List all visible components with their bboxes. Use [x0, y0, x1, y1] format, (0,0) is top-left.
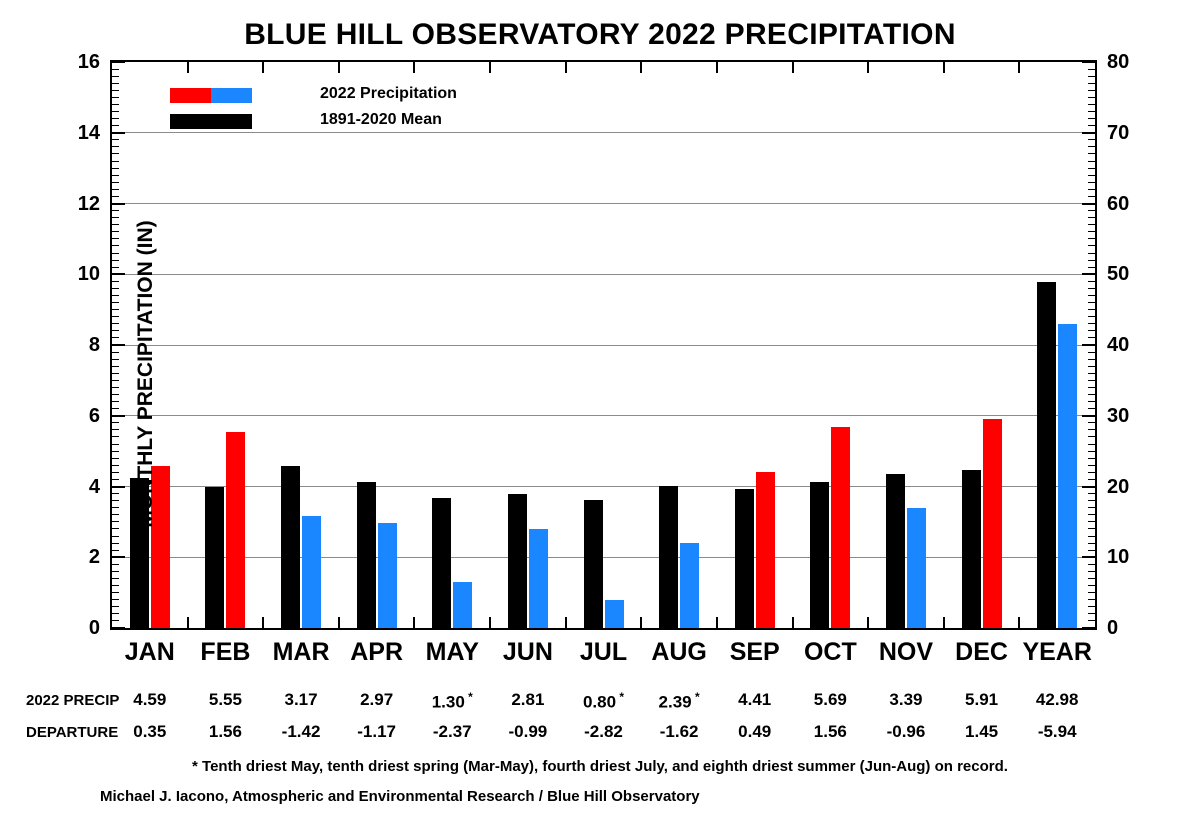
y-tick-minor-left — [112, 302, 119, 303]
y-tick-minor-left — [112, 76, 119, 77]
plot-area: 2022 Precipitation 1891-2020 Mean MONTHL… — [110, 60, 1097, 630]
y-tick-minor-left — [112, 196, 119, 197]
legend-swatch-split — [170, 88, 252, 103]
y-tick-minor-right — [1088, 408, 1095, 409]
y-tick-minor-left — [112, 238, 119, 239]
y-tick-minor-right — [1088, 316, 1095, 317]
y-tick-minor-right — [1088, 380, 1095, 381]
y-tick-minor-left — [112, 422, 119, 423]
gridline — [112, 274, 1095, 275]
bar-2022-below-mean — [1058, 324, 1077, 628]
y-tick-minor-right — [1088, 606, 1095, 607]
y-tick-minor-left — [112, 444, 119, 445]
bar-2022-below-mean — [605, 600, 624, 628]
y-tick-minor-right — [1088, 366, 1095, 367]
bar-2022-below-mean — [680, 543, 699, 628]
y-tick-minor-left — [112, 153, 119, 154]
y-tick-minor-right — [1088, 146, 1095, 147]
x-tick-bottom — [716, 617, 718, 628]
gridline — [112, 203, 1095, 204]
y-tick-minor-right — [1088, 153, 1095, 154]
y-tick-minor-left — [112, 550, 119, 551]
x-tick-top — [413, 62, 415, 73]
y-tick-minor-right — [1088, 422, 1095, 423]
y-tick-major-right — [1082, 344, 1095, 346]
y-tick-minor-right — [1088, 125, 1095, 126]
y-tick-minor-left — [112, 245, 119, 246]
x-tick-bottom — [489, 617, 491, 628]
y-tick-major-right — [1082, 415, 1095, 417]
x-tick-bottom — [187, 617, 189, 628]
y-tick-minor-right — [1088, 97, 1095, 98]
y-tick-minor-right — [1088, 83, 1095, 84]
y-tick-minor-right — [1088, 111, 1095, 112]
bar-mean — [886, 474, 905, 628]
bar-mean — [281, 466, 300, 628]
y-tick-minor-left — [112, 543, 119, 544]
y-tick-minor-right — [1088, 479, 1095, 480]
x-tick-top — [640, 62, 642, 73]
y-tick-minor-left — [112, 408, 119, 409]
y-tick-minor-left — [112, 337, 119, 338]
bar-2022-above-mean — [756, 472, 775, 628]
y-tick-major-left — [112, 627, 125, 628]
y-tick-minor-right — [1088, 161, 1095, 162]
chart-title: BLUE HILL OBSERVATORY 2022 PRECIPITATION — [0, 18, 1200, 52]
gridline — [112, 415, 1095, 416]
y-tick-minor-right — [1088, 359, 1095, 360]
y-tick-minor-right — [1088, 528, 1095, 529]
y-tick-minor-left — [112, 139, 119, 140]
y-tick-minor-left — [112, 288, 119, 289]
y-tick-minor-left — [112, 429, 119, 430]
gridline — [112, 345, 1095, 346]
x-tick-bottom — [867, 617, 869, 628]
bar-2022-below-mean — [453, 582, 472, 628]
y-tick-label-right: 70 — [1107, 123, 1153, 143]
legend-swatch-blue — [211, 88, 252, 103]
y-tick-minor-right — [1088, 267, 1095, 268]
x-tick-top — [867, 62, 869, 73]
y-tick-minor-right — [1088, 352, 1095, 353]
bar-2022-above-mean — [226, 432, 245, 628]
y-tick-minor-right — [1088, 592, 1095, 593]
y-tick-label-right: 20 — [1107, 477, 1153, 497]
y-tick-minor-left — [112, 500, 119, 501]
y-tick-minor-left — [112, 528, 119, 529]
y-tick-minor-right — [1088, 500, 1095, 501]
y-tick-minor-left — [112, 507, 119, 508]
y-tick-minor-right — [1088, 337, 1095, 338]
y-tick-minor-right — [1088, 139, 1095, 140]
y-tick-minor-left — [112, 451, 119, 452]
y-tick-minor-right — [1088, 571, 1095, 572]
y-tick-minor-right — [1088, 521, 1095, 522]
y-tick-minor-right — [1088, 295, 1095, 296]
y-tick-minor-left — [112, 253, 119, 254]
y-tick-minor-left — [112, 564, 119, 565]
y-tick-label-left: 4 — [54, 477, 100, 497]
y-tick-major-left — [112, 203, 125, 205]
y-tick-minor-right — [1088, 217, 1095, 218]
bar-mean — [659, 486, 678, 628]
y-tick-label-left: 6 — [54, 406, 100, 426]
y-tick-minor-right — [1088, 493, 1095, 494]
y-tick-minor-left — [112, 352, 119, 353]
y-tick-minor-left — [112, 281, 119, 282]
y-tick-minor-right — [1088, 253, 1095, 254]
y-tick-minor-right — [1088, 104, 1095, 105]
legend-label-2022: 2022 Precipitation — [320, 85, 457, 103]
y-tick-minor-left — [112, 260, 119, 261]
precipitation-chart: BLUE HILL OBSERVATORY 2022 PRECIPITATION… — [0, 0, 1200, 830]
y-tick-minor-right — [1088, 182, 1095, 183]
y-tick-minor-left — [112, 472, 119, 473]
y-tick-major-left — [112, 344, 125, 346]
x-tick-top — [338, 62, 340, 73]
y-tick-label-right: 80 — [1107, 52, 1153, 72]
y-tick-minor-left — [112, 373, 119, 374]
y-tick-minor-right — [1088, 387, 1095, 388]
y-tick-minor-left — [112, 161, 119, 162]
y-tick-minor-left — [112, 146, 119, 147]
y-tick-minor-right — [1088, 168, 1095, 169]
y-tick-minor-right — [1088, 613, 1095, 614]
bar-mean — [432, 498, 451, 628]
y-tick-major-left — [112, 486, 125, 488]
y-tick-minor-right — [1088, 514, 1095, 515]
y-tick-minor-left — [112, 606, 119, 607]
y-tick-minor-left — [112, 90, 119, 91]
y-tick-major-left — [112, 273, 125, 275]
x-tick-top — [792, 62, 794, 73]
y-tick-minor-right — [1088, 210, 1095, 211]
y-tick-label-left: 8 — [54, 335, 100, 355]
y-tick-minor-right — [1088, 564, 1095, 565]
y-tick-minor-left — [112, 83, 119, 84]
y-tick-minor-right — [1088, 76, 1095, 77]
table-cell-departure-year: -5.94 — [1007, 722, 1107, 742]
y-tick-minor-left — [112, 620, 119, 621]
y-tick-minor-left — [112, 571, 119, 572]
y-tick-minor-left — [112, 295, 119, 296]
y-tick-minor-right — [1088, 309, 1095, 310]
y-tick-minor-right — [1088, 543, 1095, 544]
y-tick-minor-right — [1088, 585, 1095, 586]
x-axis-label-year: YEAR — [1007, 638, 1107, 667]
y-tick-minor-right — [1088, 444, 1095, 445]
y-tick-minor-right — [1088, 118, 1095, 119]
y-tick-minor-right — [1088, 245, 1095, 246]
bar-mean — [810, 482, 829, 628]
x-tick-top — [489, 62, 491, 73]
x-tick-top — [262, 62, 264, 73]
plot-inner: 2022 Precipitation 1891-2020 Mean — [112, 62, 1095, 628]
y-tick-minor-right — [1088, 323, 1095, 324]
y-tick-minor-left — [112, 189, 119, 190]
y-tick-minor-left — [112, 330, 119, 331]
y-tick-major-right — [1082, 203, 1095, 205]
y-tick-minor-left — [112, 366, 119, 367]
y-tick-label-left: 10 — [54, 264, 100, 284]
y-tick-minor-left — [112, 536, 119, 537]
y-tick-major-right — [1082, 486, 1095, 488]
gridline — [112, 132, 1095, 133]
y-tick-minor-right — [1088, 224, 1095, 225]
y-tick-minor-right — [1088, 536, 1095, 537]
footnote-asterisk: * Tenth driest May, tenth driest spring … — [0, 758, 1200, 775]
y-tick-label-right: 60 — [1107, 194, 1153, 214]
y-tick-label-right: 0 — [1107, 618, 1153, 638]
x-tick-bottom — [262, 617, 264, 628]
y-tick-minor-left — [112, 599, 119, 600]
y-tick-minor-left — [112, 387, 119, 388]
y-tick-minor-left — [112, 69, 119, 70]
x-tick-top — [716, 62, 718, 73]
y-tick-minor-left — [112, 394, 119, 395]
y-tick-minor-right — [1088, 302, 1095, 303]
table-cell-precip-year: 42.98 — [1007, 690, 1107, 710]
bar-2022-below-mean — [529, 529, 548, 628]
x-tick-bottom — [792, 617, 794, 628]
y-tick-label-right: 10 — [1107, 547, 1153, 567]
y-tick-label-left: 2 — [54, 547, 100, 567]
y-tick-minor-right — [1088, 231, 1095, 232]
x-tick-bottom — [943, 617, 945, 628]
y-tick-major-right — [1082, 273, 1095, 275]
y-tick-minor-left — [112, 182, 119, 183]
y-tick-minor-left — [112, 168, 119, 169]
y-tick-major-right — [1082, 556, 1095, 558]
bar-mean — [508, 494, 527, 628]
bar-mean — [1037, 282, 1056, 628]
y-tick-minor-left — [112, 224, 119, 225]
y-tick-major-right — [1082, 62, 1095, 63]
y-tick-minor-right — [1088, 394, 1095, 395]
y-tick-minor-left — [112, 613, 119, 614]
y-tick-minor-left — [112, 323, 119, 324]
y-tick-minor-right — [1088, 238, 1095, 239]
y-tick-minor-right — [1088, 260, 1095, 261]
y-tick-minor-right — [1088, 436, 1095, 437]
y-tick-minor-left — [112, 125, 119, 126]
y-tick-major-left — [112, 62, 125, 63]
y-tick-minor-left — [112, 231, 119, 232]
bar-2022-above-mean — [831, 427, 850, 628]
y-tick-major-right — [1082, 627, 1095, 628]
y-tick-minor-left — [112, 592, 119, 593]
gridline — [112, 486, 1095, 487]
x-tick-bottom — [413, 617, 415, 628]
y-tick-minor-right — [1088, 401, 1095, 402]
y-tick-minor-right — [1088, 330, 1095, 331]
y-tick-minor-left — [112, 316, 119, 317]
y-tick-minor-right — [1088, 599, 1095, 600]
y-tick-minor-left — [112, 436, 119, 437]
x-tick-top — [187, 62, 189, 73]
y-tick-minor-right — [1088, 175, 1095, 176]
y-tick-minor-right — [1088, 196, 1095, 197]
y-tick-minor-right — [1088, 281, 1095, 282]
y-axis-title-left: MONTHLY PRECIPITATION (IN) — [134, 94, 158, 654]
y-tick-minor-left — [112, 578, 119, 579]
y-tick-major-left — [112, 556, 125, 558]
legend-swatch-black — [170, 114, 252, 129]
y-tick-minor-left — [112, 465, 119, 466]
y-tick-minor-left — [112, 210, 119, 211]
y-tick-minor-right — [1088, 288, 1095, 289]
y-tick-minor-right — [1088, 620, 1095, 621]
y-tick-minor-left — [112, 175, 119, 176]
y-tick-minor-left — [112, 267, 119, 268]
y-tick-minor-left — [112, 479, 119, 480]
y-tick-minor-right — [1088, 373, 1095, 374]
y-tick-minor-right — [1088, 550, 1095, 551]
y-tick-minor-left — [112, 458, 119, 459]
footnote-credit: Michael J. Iacono, Atmospheric and Envir… — [100, 788, 700, 805]
y-tick-minor-left — [112, 104, 119, 105]
y-tick-minor-left — [112, 111, 119, 112]
y-tick-minor-right — [1088, 90, 1095, 91]
y-tick-major-left — [112, 415, 125, 417]
bar-mean — [205, 487, 224, 628]
x-tick-top — [1018, 62, 1020, 73]
bar-2022-above-mean — [983, 419, 1002, 628]
x-tick-bottom — [640, 617, 642, 628]
y-tick-minor-right — [1088, 472, 1095, 473]
y-tick-minor-left — [112, 118, 119, 119]
bar-2022-below-mean — [378, 523, 397, 628]
x-tick-bottom — [565, 617, 567, 628]
bar-mean — [357, 482, 376, 628]
y-tick-minor-left — [112, 309, 119, 310]
y-tick-minor-left — [112, 359, 119, 360]
y-tick-label-right: 50 — [1107, 264, 1153, 284]
y-tick-label-left: 0 — [54, 618, 100, 638]
y-tick-minor-right — [1088, 458, 1095, 459]
y-tick-minor-right — [1088, 429, 1095, 430]
bar-mean — [962, 470, 981, 628]
bar-2022-below-mean — [907, 508, 926, 628]
y-tick-minor-right — [1088, 189, 1095, 190]
x-tick-top — [565, 62, 567, 73]
y-tick-major-right — [1082, 132, 1095, 134]
y-tick-label-left: 14 — [54, 123, 100, 143]
y-tick-label-left: 12 — [54, 194, 100, 214]
y-tick-minor-left — [112, 585, 119, 586]
y-tick-minor-left — [112, 493, 119, 494]
x-tick-top — [943, 62, 945, 73]
y-tick-minor-left — [112, 217, 119, 218]
y-tick-minor-left — [112, 401, 119, 402]
y-tick-minor-right — [1088, 465, 1095, 466]
y-tick-minor-right — [1088, 69, 1095, 70]
bar-2022-below-mean — [302, 516, 321, 628]
x-tick-bottom — [338, 617, 340, 628]
y-tick-minor-left — [112, 521, 119, 522]
x-tick-bottom — [1018, 617, 1020, 628]
gridline — [112, 557, 1095, 558]
y-tick-minor-right — [1088, 451, 1095, 452]
bar-mean — [735, 489, 754, 628]
bar-mean — [584, 500, 603, 628]
legend-swatch-red — [170, 88, 211, 103]
legend-label-mean: 1891-2020 Mean — [320, 111, 442, 129]
y-tick-major-left — [112, 132, 125, 134]
y-tick-minor-left — [112, 97, 119, 98]
y-tick-minor-left — [112, 514, 119, 515]
y-tick-minor-right — [1088, 578, 1095, 579]
y-tick-label-right: 40 — [1107, 335, 1153, 355]
y-tick-minor-right — [1088, 507, 1095, 508]
y-tick-label-right: 30 — [1107, 406, 1153, 426]
y-tick-minor-left — [112, 380, 119, 381]
y-tick-label-left: 16 — [54, 52, 100, 72]
